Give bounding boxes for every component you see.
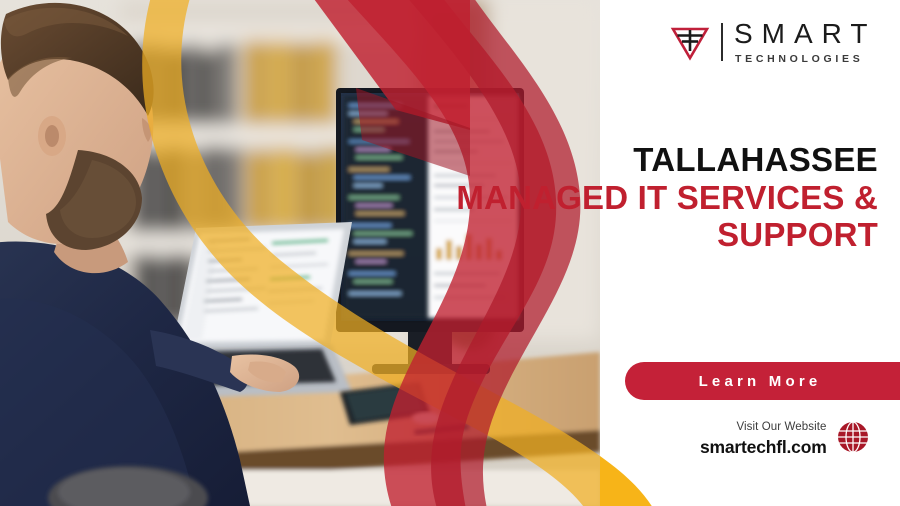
brand-name-primary: SMART [732, 20, 877, 48]
headline-city: TALLAHASSEE [456, 143, 878, 178]
website-block[interactable]: Visit Our Website smartechfl.com [700, 417, 870, 458]
globe-icon [836, 420, 870, 454]
brand-name-secondary: TECHNOLOGIES [732, 54, 877, 65]
headline-main: MANAGED IT SERVICES & SUPPORT [456, 181, 878, 253]
triangle-cross-icon [668, 20, 712, 64]
website-text: Visit Our Website smartechfl.com [700, 417, 827, 458]
visit-prompt: Visit Our Website [736, 421, 826, 433]
logo-wordmark: SMART TECHNOLOGIES [732, 20, 877, 65]
brand-logo[interactable]: SMART TECHNOLOGIES [668, 20, 877, 65]
logo-divider [721, 23, 723, 61]
promotional-banner: SMART TECHNOLOGIES TALLAHASSEE MANAGED I… [0, 0, 900, 506]
headline-block: TALLAHASSEE MANAGED IT SERVICES & SUPPOR… [456, 143, 878, 253]
headline-line-2: SUPPORT [456, 218, 878, 253]
headline-line-1: MANAGED IT SERVICES & [456, 179, 878, 216]
learn-more-label: Learn More [699, 373, 822, 390]
website-domain: smartechfl.com [700, 437, 827, 457]
learn-more-button[interactable]: Learn More [625, 362, 900, 400]
